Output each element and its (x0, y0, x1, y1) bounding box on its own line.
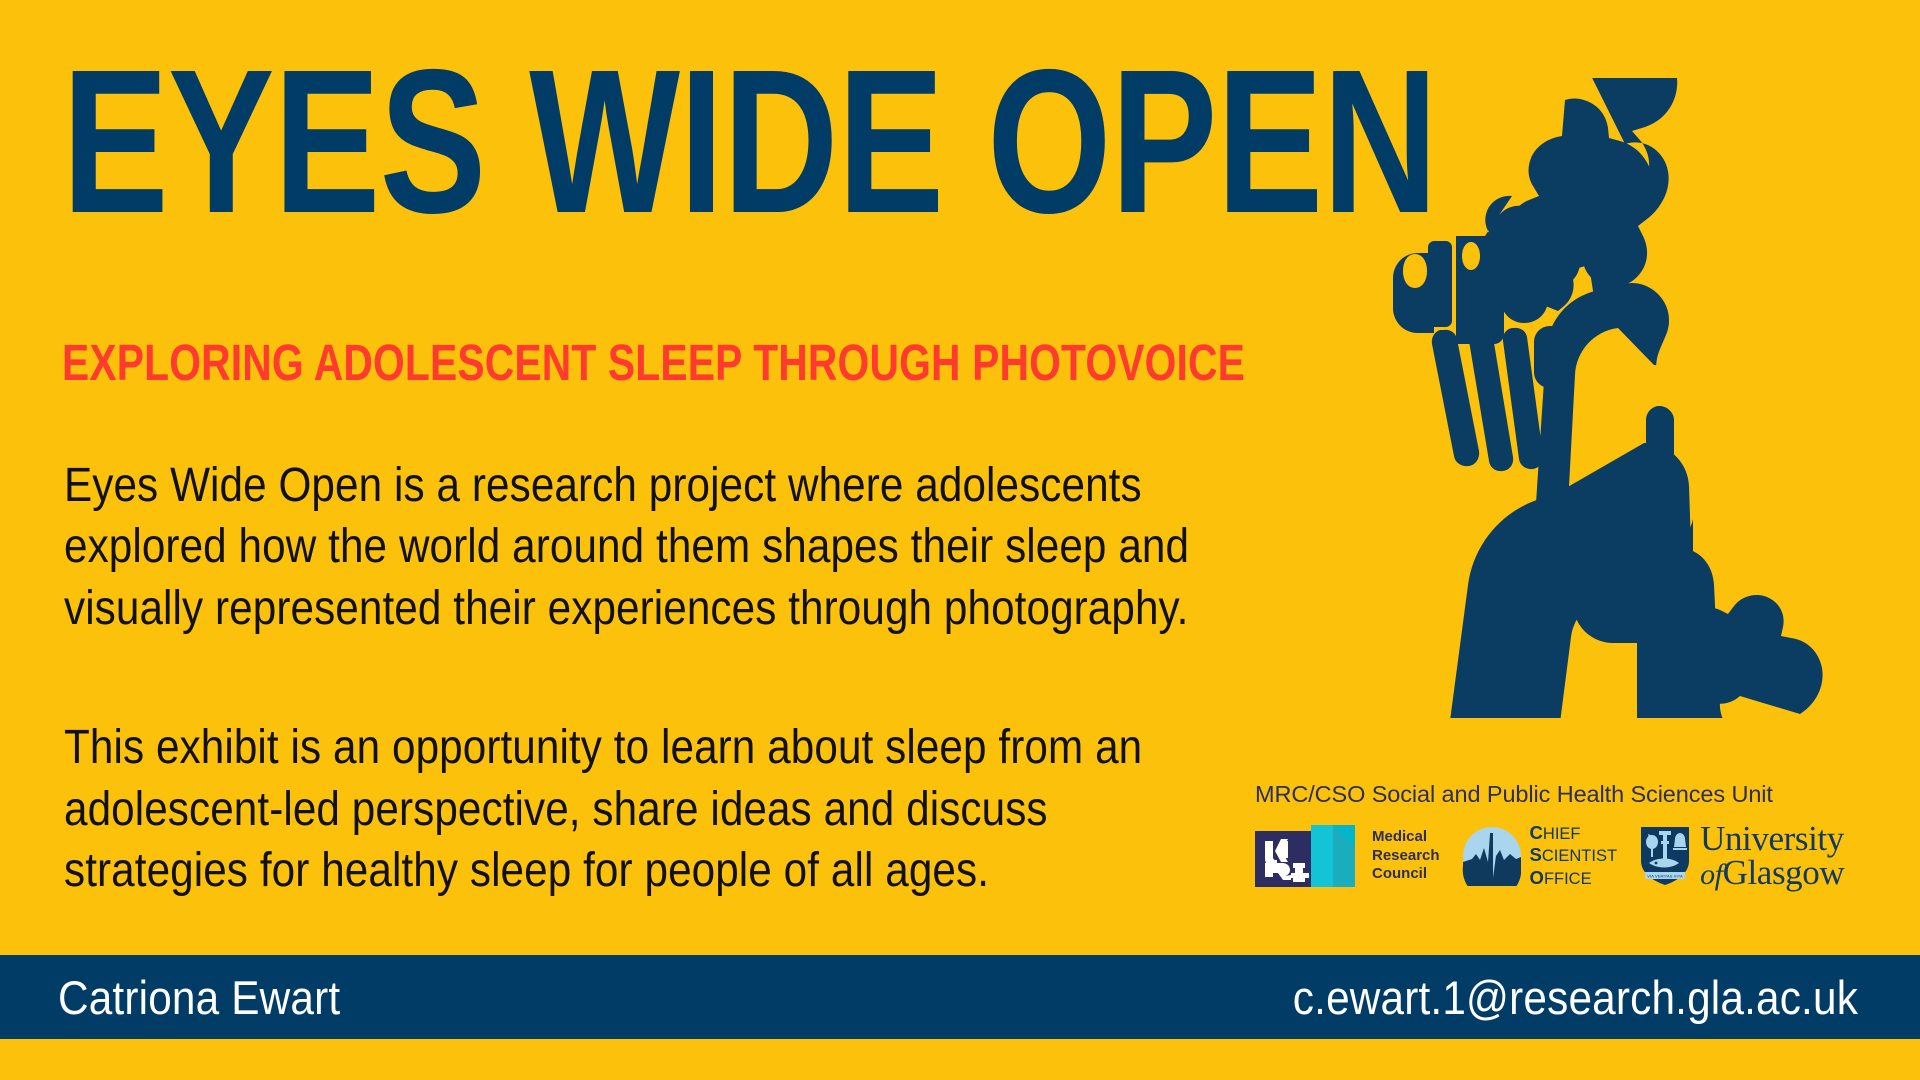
glasgow-crest-icon: VIA VERITAS VITA (1639, 825, 1691, 887)
cso-wordmark: CHIEF SCIENTIST OFFICE (1530, 822, 1618, 890)
funder-block: MRC/CSO Social and Public Health Science… (1255, 782, 1895, 890)
cso-line-2: SCIENTIST (1530, 844, 1618, 867)
glasgow-line-1: University (1700, 822, 1844, 855)
poster-canvas: EYES WIDE OPEN EXPLORING ADOLESCENT SLEE… (0, 0, 1920, 1080)
cso-mark-icon (1462, 826, 1522, 886)
glasgow-line-2: ofGlasgow (1700, 856, 1844, 890)
contact-email[interactable]: c.ewart.1@research.gla.ac.uk (1293, 974, 1858, 1021)
ukri-mark-icon (1255, 825, 1363, 887)
footer-bar: Catriona Ewart c.ewart.1@research.gla.ac… (0, 955, 1920, 1039)
ukri-mrc-logo: Medical Research Council (1255, 825, 1440, 887)
text-column: EYES WIDE OPEN EXPLORING ADOLESCENT SLEE… (62, 0, 1262, 955)
paragraph-2: This exhibit is an opportunity to learn … (64, 717, 1208, 901)
chief-scientist-office-logo: CHIEF SCIENTIST OFFICE (1462, 822, 1618, 890)
unit-name: MRC/CSO Social and Public Health Science… (1255, 782, 1895, 808)
logo-row: Medical Research Council CHIEF SCIENTIST… (1255, 822, 1895, 890)
university-of-glasgow-logo: VIA VERITAS VITA University ofGlasgow (1639, 822, 1844, 889)
cso-line-1: CHIEF (1530, 822, 1618, 845)
glasgow-wordmark: University ofGlasgow (1700, 822, 1844, 889)
footer-inner: Catriona Ewart c.ewart.1@research.gla.ac… (0, 955, 1920, 1039)
paragraph-1: Eyes Wide Open is a research project whe… (64, 455, 1208, 639)
cso-line-3: OFFICE (1530, 867, 1618, 890)
page-title: EYES WIDE OPEN (62, 52, 1437, 232)
poster-subtitle: EXPLORING ADOLESCENT SLEEP THROUGH PHOTO… (62, 337, 1245, 388)
svg-text:VIA VERITAS VITA: VIA VERITAS VITA (1647, 873, 1683, 878)
author-name: Catriona Ewart (58, 974, 340, 1021)
mrc-wordmark: Medical Research Council (1372, 828, 1440, 883)
body-copy: Eyes Wide Open is a research project whe… (64, 455, 1364, 902)
kneeling-photographer-illustration (1300, 78, 1900, 718)
